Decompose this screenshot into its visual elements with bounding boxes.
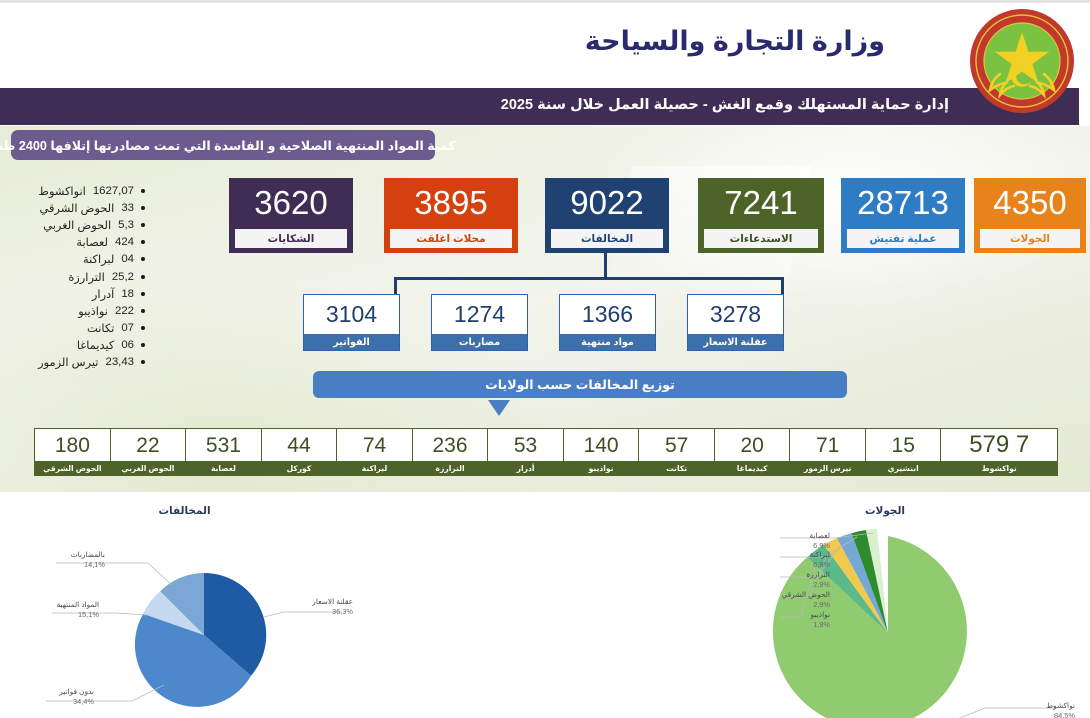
cell-value: 74 xyxy=(337,429,412,461)
arrow-down-icon xyxy=(488,400,510,416)
cell-label: تيرس الزمور xyxy=(790,461,865,475)
ministry-title: وزارة التجارة والسياحة xyxy=(585,26,885,57)
cell-label: الحوض الشرقي xyxy=(35,461,110,475)
kpi-value: 9022 xyxy=(545,178,669,229)
region-tonnage-list: 1627,07 انواكشوط 33 الحوض الشرقي 5,3 الح… xyxy=(5,182,145,371)
kpi-card-closed-shops[interactable]: 3895 محلات اغلقت xyxy=(384,178,518,253)
kpi-label: المخالفات xyxy=(551,229,663,248)
bullet-icon xyxy=(141,257,145,261)
seized-goods-callout: كمية المواد المنتهية الصلاحية و الفاسدة … xyxy=(11,130,435,160)
subbox-speculation[interactable]: 1274 مضاربات xyxy=(431,294,528,351)
list-item-value: 424 xyxy=(115,236,134,248)
pie-label-text: نواذيبو xyxy=(811,610,830,619)
subbox-label: عقلنة الاسعار xyxy=(688,334,783,350)
list-item-label: لعصابة xyxy=(76,235,108,249)
cell-value: 53 xyxy=(488,429,563,461)
cell-label: تكانت xyxy=(639,461,714,475)
list-item-value: 06 xyxy=(121,339,134,351)
pie-label-value: 15,1% xyxy=(57,610,99,620)
list-item: 23,43 تيرس الزمور xyxy=(5,354,145,371)
list-item-label: نواذيبو xyxy=(78,304,108,318)
section-band-text: إدارة حماية المستهلك وقمع الغش - حصيلة ا… xyxy=(501,97,949,113)
tours-pie-chart: الجولات لعصابة 6,9% لبراكنة 6 xyxy=(685,505,1085,718)
table-cell-hodh-charghi: 180 الحوض الشرقي xyxy=(35,429,110,475)
table-cell-nouakchott: 7 579 نواكشوط xyxy=(940,429,1057,475)
list-item: 07 تكانت xyxy=(5,320,145,337)
list-item-value: 23,43 xyxy=(105,356,134,368)
pie-label-text: بدون فواتير xyxy=(59,687,94,696)
subbox-label: الفواتير xyxy=(304,334,399,350)
pie-label-value: 2,9% xyxy=(781,600,830,610)
mauritania-emblem-icon xyxy=(962,2,1082,120)
wilaya-table: 7 579 نواكشوط 15 ابنشيري 71 تيرس الزمور … xyxy=(34,428,1058,476)
pie-label-text: الترارزة xyxy=(806,570,830,579)
table-cell-adrar: 53 أدرار xyxy=(487,429,563,475)
table-cell-gorgol: 44 كوركل xyxy=(261,429,337,475)
table-cell-tiris-zemmour: 71 تيرس الزمور xyxy=(789,429,865,475)
pie-label-value: 14,1% xyxy=(71,560,105,570)
cell-label: لبراكنة xyxy=(337,461,412,475)
kpi-label: الشكايات xyxy=(235,229,347,248)
cell-label: كيديماغا xyxy=(715,461,790,475)
cell-label: كوركل xyxy=(262,461,337,475)
pie-label-speculation: بالمضاربات 14,1% xyxy=(71,550,105,570)
pie-label-nouakchott: نواكشوط 84,5% xyxy=(1046,701,1075,718)
list-item: 25,2 الترارزة xyxy=(5,268,145,285)
list-item-label: آدرار xyxy=(92,287,114,301)
cell-label: الحوض الغربي xyxy=(111,461,186,475)
connector-horizontal xyxy=(394,277,784,280)
bullet-icon xyxy=(141,360,145,364)
list-item-value: 07 xyxy=(121,322,134,334)
table-cell-nouadhibou: 140 نواذيبو xyxy=(563,429,639,475)
list-item: 06 كيديماغا xyxy=(5,337,145,354)
kpi-label: الاستدعاءات xyxy=(704,229,818,248)
table-cell-tagant: 57 تكانت xyxy=(638,429,714,475)
dashboard-page: وزارة التجارة والسياحة إدارة حماية المست… xyxy=(0,0,1090,718)
section-band: إدارة حماية المستهلك وقمع الغش - حصيلة ا… xyxy=(0,88,1079,125)
kpi-card-violations[interactable]: 9022 المخالفات xyxy=(545,178,669,253)
pie-label-value: 2,9% xyxy=(806,580,830,590)
list-item-value: 5,3 xyxy=(118,219,134,231)
pie-label-assaba: لعصابة 6,9% xyxy=(810,531,831,551)
cell-label: لعصابة xyxy=(186,461,261,475)
violations-pie-chart: المخالفات عقلنة الاسعار 36,3% بدون فواتي… xyxy=(12,505,357,715)
pie-label-brakna: لبراكنة 6,9% xyxy=(810,550,830,570)
tours-pie-svg xyxy=(685,505,1085,718)
connector-stub-left xyxy=(781,277,784,294)
bullet-icon xyxy=(141,326,145,330)
subbox-value: 1274 xyxy=(432,295,527,334)
cell-value: 22 xyxy=(111,429,186,461)
list-item-label: الحوض الشرقي xyxy=(39,201,114,215)
table-cell-assaba: 531 لعصابة xyxy=(185,429,261,475)
cell-value: 531 xyxy=(186,429,261,461)
table-cell-brakna: 74 لبراكنة xyxy=(336,429,412,475)
connector-stub-right xyxy=(394,277,397,294)
pie-label-text: المواد المنتهية xyxy=(57,600,99,609)
kpi-card-complaints[interactable]: 3620 الشكايات xyxy=(229,178,353,253)
list-item-value: 33 xyxy=(121,202,134,214)
kpi-value: 28713 xyxy=(841,178,965,229)
subbox-label: مواد منتهية xyxy=(560,334,655,350)
kpi-value: 7241 xyxy=(698,178,824,229)
cell-value: 20 xyxy=(715,429,790,461)
list-item-value: 1627,07 xyxy=(93,185,134,197)
kpi-value: 3895 xyxy=(384,178,518,229)
list-item-label: تيرس الزمور xyxy=(38,355,98,369)
pie-label-trarza: الترارزة 2,9% xyxy=(806,570,830,590)
cell-label: الترارزة xyxy=(413,461,488,475)
pie-label-text: عقلنة الاسعار xyxy=(312,597,353,606)
bullet-icon xyxy=(141,240,145,244)
bullet-icon xyxy=(141,309,145,313)
list-item-label: تكانت xyxy=(87,321,114,335)
chart-title: الجولات xyxy=(685,505,1085,517)
list-item-label: الحوض الغربي xyxy=(43,218,111,232)
bullet-icon xyxy=(141,343,145,347)
table-cell-hodh-gharbi: 22 الحوض الغربي xyxy=(110,429,186,475)
bullet-icon xyxy=(141,189,145,193)
subbox-label: مضاربات xyxy=(432,334,527,350)
kpi-value: 3620 xyxy=(229,178,353,229)
pie-label-value: 6,9% xyxy=(810,560,830,570)
cell-label: ابنشيري xyxy=(866,461,941,475)
cell-value: 71 xyxy=(790,429,865,461)
cell-label: نواذيبو xyxy=(564,461,639,475)
cell-value: 236 xyxy=(413,429,488,461)
cell-value: 44 xyxy=(262,429,337,461)
pie-label-prices: عقلنة الاسعار 36,3% xyxy=(312,597,353,617)
connector-vertical xyxy=(604,253,607,279)
kpi-card-inspections[interactable]: 28713 عملية تفتيش xyxy=(841,178,965,253)
pie-label-text: نواكشوط xyxy=(1046,701,1075,710)
pie-label-value: 1,9% xyxy=(811,620,830,630)
top-divider xyxy=(0,0,1090,3)
pie-label-text: بالمضاربات xyxy=(71,550,105,559)
table-cell-inchiri: 15 ابنشيري xyxy=(865,429,941,475)
list-item-label: الترارزة xyxy=(68,270,105,284)
pie-label-value: 84,5% xyxy=(1046,711,1075,718)
distribution-title-bar: توزيع المخالفات حسب الولايات xyxy=(313,371,847,398)
list-item: 04 لبراكنة xyxy=(5,251,145,268)
pie-label-text: الحوض الشرقي xyxy=(781,590,830,599)
subbox-value: 3278 xyxy=(688,295,783,334)
list-item-value: 25,2 xyxy=(112,271,134,283)
pie-label-hodh-charghi: الحوض الشرقي 2,9% xyxy=(781,590,830,610)
page-header: وزارة التجارة والسياحة xyxy=(0,0,1090,88)
bullet-icon xyxy=(141,206,145,210)
subbox-value: 1366 xyxy=(560,295,655,334)
subbox-price-control[interactable]: 3278 عقلنة الاسعار xyxy=(687,294,784,351)
pie-label-nouadhibou: نواذيبو 1,9% xyxy=(811,610,830,630)
list-item: 1627,07 انواكشوط xyxy=(5,182,145,199)
list-item-label: لبراكنة xyxy=(83,252,114,266)
subbox-value: 3104 xyxy=(304,295,399,334)
cell-value: 57 xyxy=(639,429,714,461)
list-item: 5,3 الحوض الغربي xyxy=(5,216,145,233)
kpi-card-tours[interactable]: 4350 الجولات xyxy=(974,178,1086,253)
kpi-label: الجولات xyxy=(980,229,1080,248)
bullet-icon xyxy=(141,223,145,227)
pie-label-expired: المواد المنتهية 15,1% xyxy=(57,600,99,620)
cell-value: 15 xyxy=(866,429,941,461)
cell-value: 7 579 xyxy=(941,429,1057,461)
bullet-icon xyxy=(141,275,145,279)
list-item-label: كيديماغا xyxy=(77,338,115,352)
list-item-value: 04 xyxy=(121,253,134,265)
list-item-value: 18 xyxy=(121,288,134,300)
pie-label-text: لعصابة xyxy=(810,531,831,540)
subbox-expired-goods[interactable]: 1366 مواد منتهية xyxy=(559,294,656,351)
pie-label-value: 36,3% xyxy=(312,607,353,617)
list-item: 18 آدرار xyxy=(5,285,145,302)
table-cell-trarza: 236 الترارزة xyxy=(412,429,488,475)
subbox-invoices[interactable]: 3104 الفواتير xyxy=(303,294,400,351)
cell-label: نواكشوط xyxy=(941,461,1057,475)
kpi-value: 4350 xyxy=(974,178,1086,229)
pie-label-value: 34,4% xyxy=(59,697,94,707)
kpi-label: عملية تفتيش xyxy=(847,229,959,248)
kpi-card-summons[interactable]: 7241 الاستدعاءات xyxy=(698,178,824,253)
cell-value: 180 xyxy=(35,429,110,461)
list-item: 33 الحوض الشرقي xyxy=(5,199,145,216)
list-item: 424 لعصابة xyxy=(5,234,145,251)
pie-label-text: لبراكنة xyxy=(810,550,830,559)
pie-label-no-invoice: بدون فواتير 34,4% xyxy=(59,687,94,707)
cell-value: 140 xyxy=(564,429,639,461)
kpi-label: محلات اغلقت xyxy=(390,229,512,248)
list-item: 222 نواذيبو xyxy=(5,302,145,319)
table-cell-guidimaka: 20 كيديماغا xyxy=(714,429,790,475)
list-item-value: 222 xyxy=(115,305,134,317)
chart-title: المخالفات xyxy=(12,505,357,517)
cell-label: أدرار xyxy=(488,461,563,475)
bullet-icon xyxy=(141,292,145,296)
list-item-label: انواكشوط xyxy=(38,184,85,198)
